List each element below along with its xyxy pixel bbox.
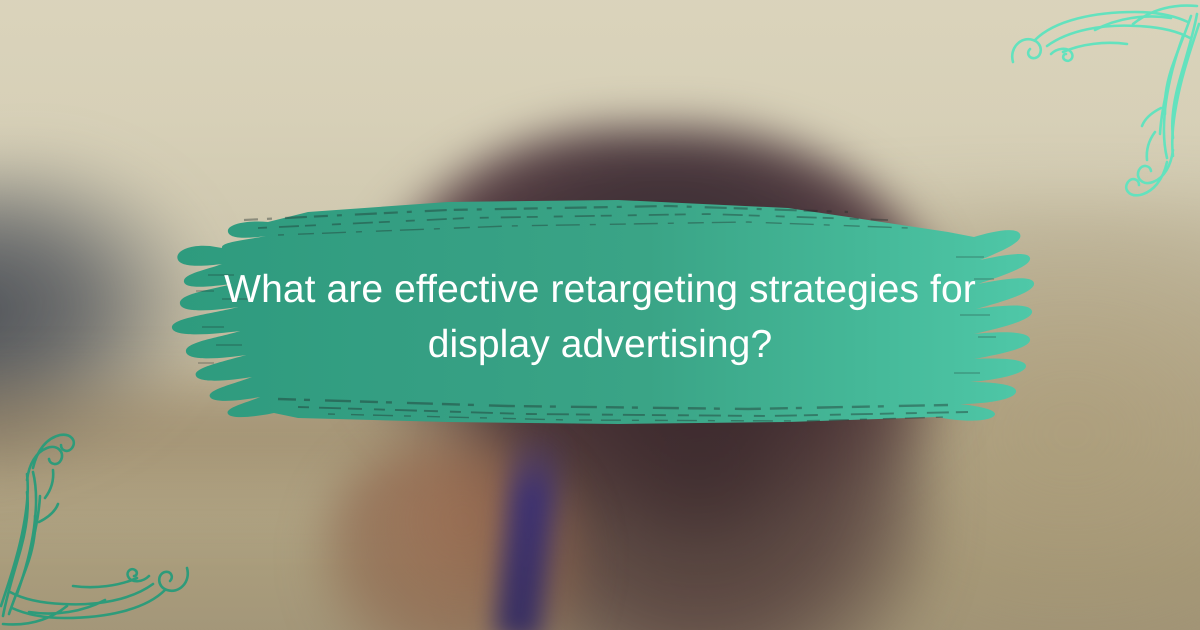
title-block: What are effective retargeting strategie… bbox=[180, 262, 1020, 373]
page-title: What are effective retargeting strategie… bbox=[180, 262, 1020, 373]
question-card: What are effective retargeting strategie… bbox=[0, 0, 1200, 630]
